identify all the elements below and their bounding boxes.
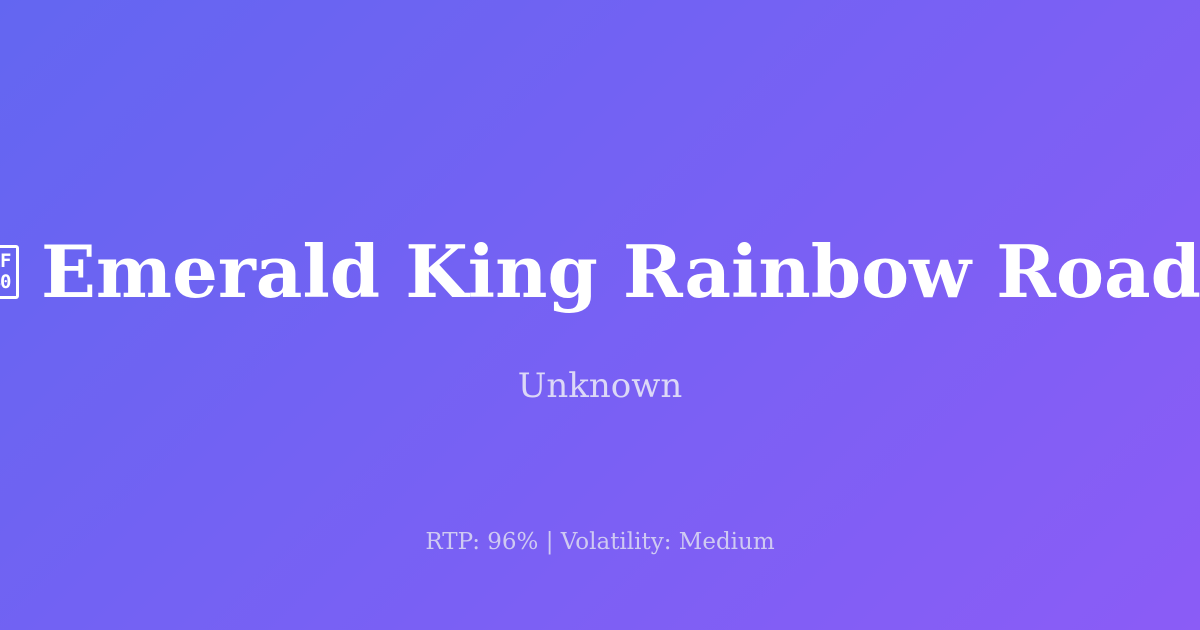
title-row: 1F B0 Emerald King Rainbow Road [0,232,1200,312]
page-title: Emerald King Rainbow Road [41,232,1200,312]
provider-label: Unknown [0,364,1200,408]
missing-glyph-bottom: B0 [0,272,16,293]
share-card: 1F B0 Emerald King Rainbow Road Unknown … [0,0,1200,630]
missing-glyph-top: 1F [0,251,16,272]
missing-glyph-icon: 1F B0 [0,245,19,299]
game-stats: RTP: 96% | Volatility: Medium [0,527,1200,557]
